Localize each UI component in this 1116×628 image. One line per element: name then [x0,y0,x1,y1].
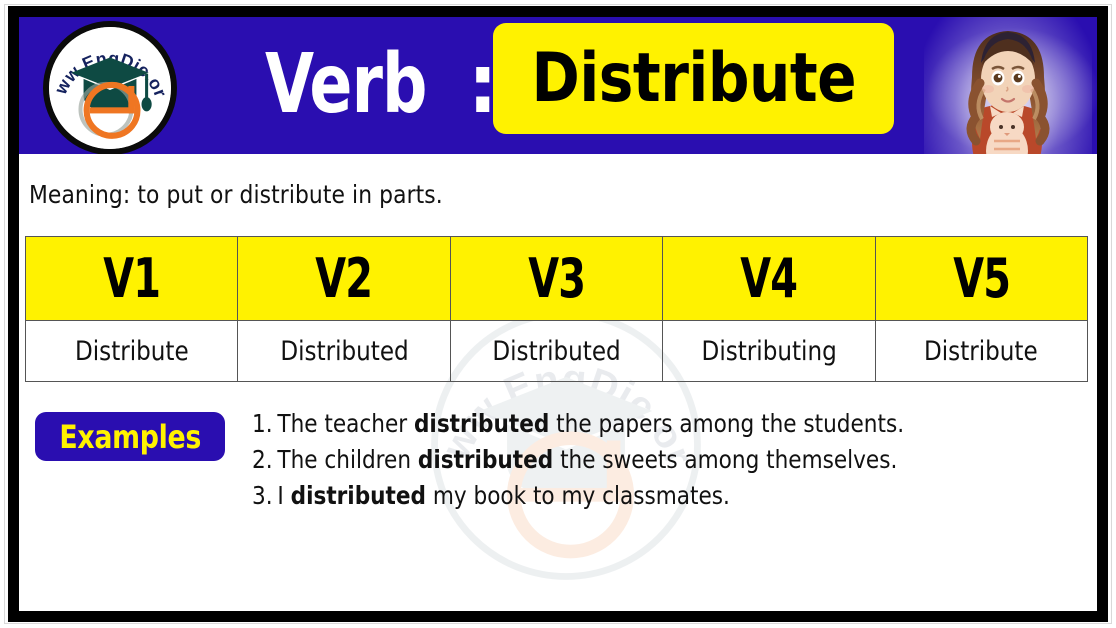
cell-label: Distributing [701,336,836,367]
header-label: V2 [316,247,373,310]
meaning-row: Meaning: to put or distribute in parts. [19,154,1097,235]
table-header-cell-v4: V4 [663,237,875,321]
example-number: 2. [252,445,273,474]
word-title: Distribute [531,39,856,118]
example-text-before: The teacher [277,409,414,438]
part-of-speech-label: Verb [265,29,427,141]
example-keyword: distributed [414,409,549,438]
list-item: 1.The teacher distributed the papers amo… [252,406,1049,442]
examples-badge: Examples [35,412,225,461]
header-label: V5 [953,247,1010,310]
example-number: 1. [252,409,273,438]
header-label: V4 [740,247,797,310]
header-label: V1 [103,247,160,310]
list-item: 2.The children distributed the sweets am… [252,442,1049,478]
meaning-text: Meaning: to put or distribute in parts. [29,180,443,209]
verb-forms-table: V1 V2 V3 V4 V5 Distribute Distributed Di… [25,236,1088,382]
example-text-after: the papers among the students. [549,409,904,438]
engdic-logo-icon[interactable]: www.EngDic.org [43,21,177,155]
header-label: V3 [528,247,585,310]
table-cell-v4: Distributing [663,321,875,382]
table-header-cell-v5: V5 [875,237,1087,321]
card-content: www.EngDic.org Verb [19,17,1097,611]
examples-list: 1.The teacher distributed the papers amo… [252,406,1082,514]
examples-section: Examples 1.The teacher distributed the p… [19,404,1097,611]
table-header-cell-v3: V3 [450,237,662,321]
table-row: Distribute Distributed Distributed Distr… [26,321,1088,382]
cell-label: Distribute [924,336,1038,367]
table-header-row: V1 V2 V3 V4 V5 [26,237,1088,321]
example-keyword: distributed [418,445,553,474]
example-text-before: I [277,481,290,510]
example-text-after: my book to my classmates. [426,481,730,510]
example-number: 3. [252,481,273,510]
example-text-after: the sweets among themselves. [553,445,897,474]
word-highlight-box: Distribute [493,23,894,134]
table-cell-v3: Distributed [450,321,662,382]
table-header-cell-v2: V2 [238,237,450,321]
table-cell-v5: Distribute [875,321,1087,382]
example-keyword: distributed [291,481,426,510]
table-cell-v2: Distributed [238,321,450,382]
example-text-before: The children [277,445,417,474]
cell-label: Distributed [280,336,408,367]
table-header-cell-v1: V1 [26,237,238,321]
cell-label: Distributed [492,336,620,367]
worksheet-card: www.EngDic.org Verb [0,0,1116,628]
cell-label: Distribute [75,336,189,367]
examples-badge-label: Examples [59,418,201,456]
list-item: 3.I distributed my book to my classmates… [252,478,1049,514]
table-cell-v1: Distribute [26,321,238,382]
